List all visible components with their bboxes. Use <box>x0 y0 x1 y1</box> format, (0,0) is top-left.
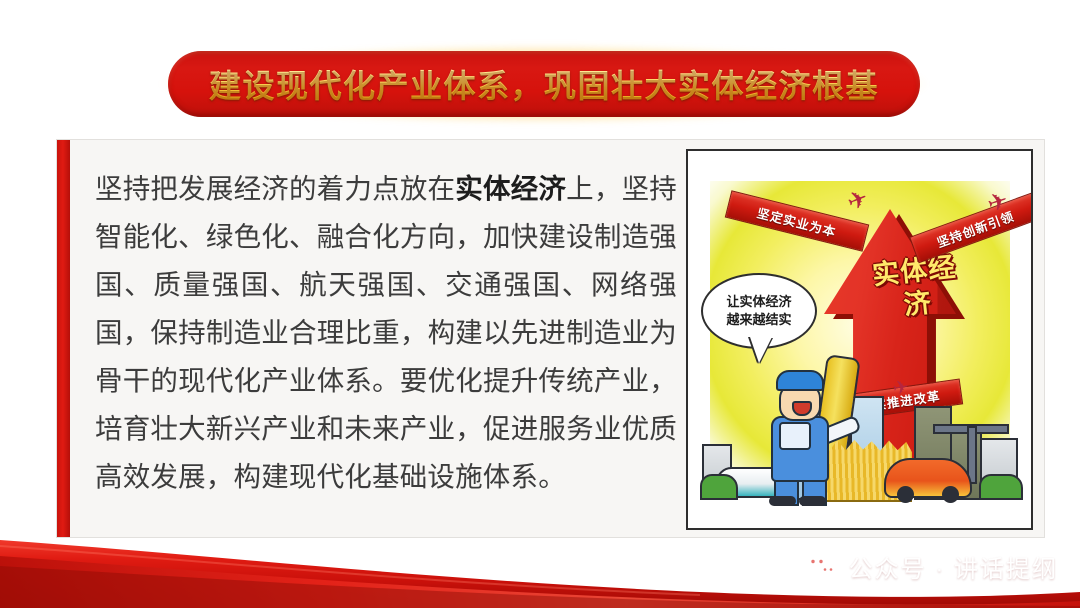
speech-bubble-line1: 让实体经济 <box>726 293 791 311</box>
illustration-frame: 实体经济 坚定实业为本 坚持创新引领 务实推进改革 ✈ ✈ ✈ 让实体经济 越来… <box>686 149 1033 530</box>
worker-figure <box>762 370 834 502</box>
speech-bubble-tail <box>750 337 772 363</box>
content-card: 坚持把发展经济的着力点放在实体经济上，坚持智能化、绿色化、融合化方向，加快建设制… <box>56 139 1045 538</box>
worker-bib <box>779 422 811 450</box>
page-title: 建设现代化产业体系，巩固壮大实体经济根基 <box>209 61 879 107</box>
title-banner: 建设现代化产业体系，巩固壮大实体经济根基 <box>168 51 920 117</box>
watermark-text: 公众号 · 讲话提纲 <box>849 549 1058 584</box>
slide: 建设现代化产业体系，巩固壮大实体经济根基 坚持把发展经济的着力点放在实体经济上，… <box>0 0 1080 608</box>
speech-bubble-text: 让实体经济 越来越结实 <box>726 293 791 329</box>
watermark: 公众号 · 讲话提纲 <box>804 549 1058 584</box>
body-text-part2: 上，坚持智能化、绿色化、融合化方向，加快建设制造强国、质量强国、航天强国、交通强… <box>95 173 677 492</box>
bottom-ribbon <box>0 488 1080 608</box>
title-pill: 建设现代化产业体系，巩固壮大实体经济根基 <box>168 51 920 117</box>
speech-bubble-line2: 越来越结实 <box>726 311 791 329</box>
body-paragraph: 坚持把发展经济的着力点放在实体经济上，坚持智能化、绿色化、融合化方向，加快建设制… <box>95 165 677 501</box>
card-accent-bar <box>57 140 70 537</box>
body-text-highlight: 实体经济 <box>455 173 566 204</box>
arrow-label: 实体经济 <box>867 250 965 325</box>
wechat-icon <box>804 552 838 582</box>
illustration: 实体经济 坚定实业为本 坚持创新引领 务实推进改革 ✈ ✈ ✈ 让实体经济 越来… <box>688 151 1031 528</box>
worker-hat-icon <box>776 370 824 391</box>
body-text-part1: 坚持把发展经济的着力点放在 <box>95 173 455 204</box>
